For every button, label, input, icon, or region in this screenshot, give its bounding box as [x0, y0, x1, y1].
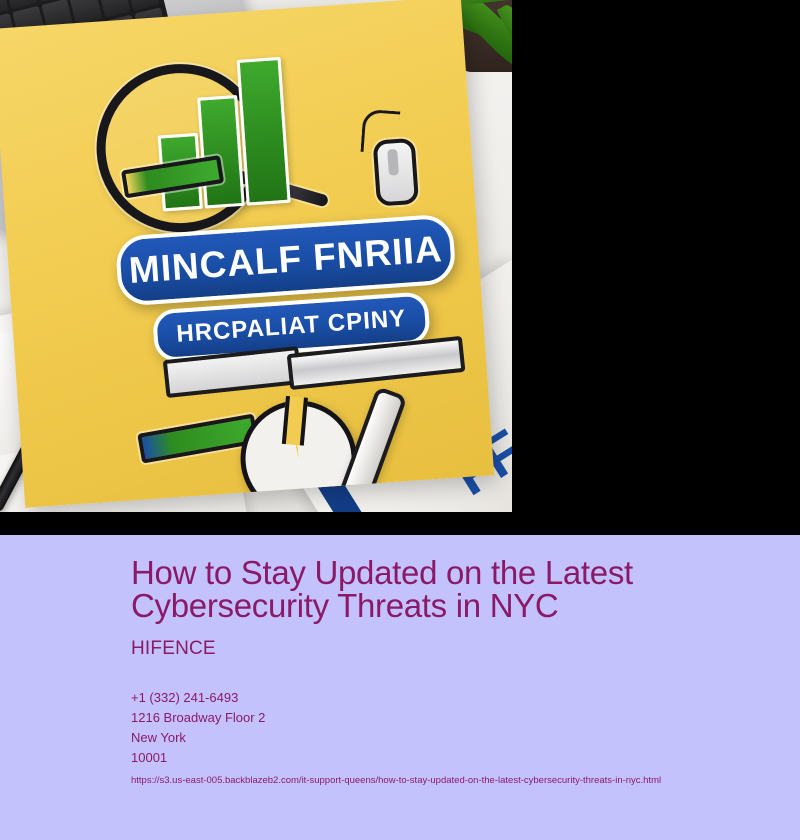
contact-phone[interactable]: +1 (332) 241-6493 [131, 688, 771, 708]
contact-city: New York [131, 728, 771, 748]
hero-band: FF MINCALF FNRIIA HRCPALIAT CPINY [0, 0, 800, 535]
yellow-card-inner: MINCALF FNRIIA HRCPALIAT CPINY [0, 0, 494, 508]
chart-bar [197, 95, 245, 209]
yellow-card: MINCALF FNRIIA HRCPALIAT CPINY [0, 0, 494, 508]
chart-bar [237, 57, 291, 206]
letterbox-bottom [0, 512, 800, 535]
contact-street: 1216 Broadway Floor 2 [131, 708, 771, 728]
computer-mouse-icon [373, 138, 420, 207]
pie-chart-notch [282, 396, 308, 446]
hero-image: FF MINCALF FNRIIA HRCPALIAT CPINY [0, 0, 512, 512]
brand-name: HIFENCE [131, 638, 771, 660]
page-title: How to Stay Updated on the Latest Cybers… [131, 556, 651, 622]
source-url[interactable]: https://s3.us-east-005.backblazeb2.com/i… [131, 774, 771, 788]
letterbox-right [512, 0, 800, 512]
contact-block: +1 (332) 241-6493 1216 Broadway Floor 2 … [131, 688, 771, 768]
article-content: How to Stay Updated on the Latest Cybers… [131, 556, 771, 788]
contact-postal-code: 10001 [131, 748, 771, 768]
